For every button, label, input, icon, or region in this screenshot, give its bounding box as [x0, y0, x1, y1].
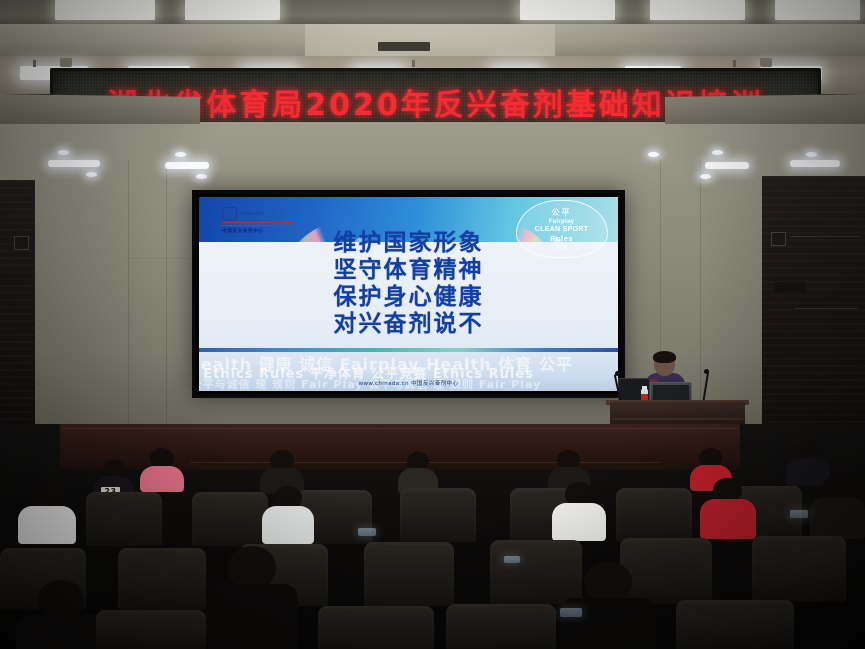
cove-strip-light — [790, 160, 840, 167]
ceiling-panel-light — [55, 0, 155, 20]
sprinkler-head — [33, 60, 36, 67]
attendee — [552, 482, 606, 540]
attendee — [140, 448, 184, 490]
attendee-torso — [560, 598, 656, 649]
wall-hairline — [795, 308, 857, 309]
slide-footer-url: www.chinada.cn 中国反兴奋剂中心 — [199, 379, 618, 387]
bottle-cap — [642, 386, 647, 390]
ceiling-panel-light — [650, 0, 745, 20]
ceiling-cove-right — [665, 94, 865, 124]
attendee — [262, 486, 314, 542]
attendee — [810, 476, 865, 538]
sprinkler-head — [412, 60, 415, 67]
presenter-hair — [653, 351, 676, 363]
ceiling-panel-light — [775, 0, 860, 20]
downlight — [58, 150, 69, 155]
slide-slogan-list: 维护国家形象 坚守体育精神 保护身心健康 对兴奋剂说不 — [199, 230, 618, 338]
wall-panel-dark-left — [0, 180, 35, 430]
projection-screen: CHINADA 中国反兴奋剂中心 公平 Fairplay CLEAN SPORT… — [192, 190, 625, 398]
auditorium-seat[interactable] — [192, 492, 268, 546]
downlight — [712, 150, 723, 155]
chinada-logo-bars — [222, 222, 294, 227]
slogan-line-3: 保护身心健康 — [199, 284, 618, 311]
wall-seam — [700, 160, 701, 430]
attendee-torso — [16, 614, 106, 649]
cloud-line-fairness-cn: 公平 — [552, 207, 572, 218]
attendee-torso — [810, 497, 865, 539]
downlight — [648, 152, 659, 157]
attendee-torso — [552, 503, 606, 541]
downlight — [700, 174, 711, 179]
wall-hairline — [128, 258, 190, 259]
device-screen-glow — [560, 608, 582, 617]
microphone-head — [615, 371, 620, 376]
attendee-torso — [140, 466, 184, 492]
attendee — [700, 478, 756, 538]
auditorium-seat[interactable] — [96, 610, 206, 649]
wall-speaker — [775, 282, 805, 292]
chinada-bar — [222, 225, 294, 227]
device-screen-glow — [790, 510, 808, 518]
attendee — [18, 484, 76, 542]
downlight — [196, 174, 207, 179]
downlight — [86, 172, 97, 177]
ceiling-panel-light — [520, 0, 615, 20]
ceiling-soffit-box — [305, 24, 555, 58]
cove-strip-light — [48, 160, 100, 167]
auditorium-seat[interactable] — [400, 488, 476, 542]
auditorium-seat[interactable] — [86, 492, 162, 546]
auditorium-seat[interactable] — [118, 548, 206, 610]
auditorium-seat[interactable] — [318, 606, 434, 649]
auditorium-seat[interactable] — [446, 604, 556, 649]
auditorium-seat[interactable] — [364, 542, 454, 606]
cloud-line-fairplay: Fairplay — [549, 219, 574, 225]
wall-seam — [128, 160, 129, 430]
wall-seam — [166, 160, 167, 430]
attendee-torso — [700, 499, 756, 539]
ceiling-vent-plate — [378, 42, 430, 51]
slogan-line-4: 对兴奋剂说不 — [199, 311, 618, 338]
slide-gradient-bar — [199, 348, 618, 352]
auditorium-seat[interactable] — [752, 536, 846, 602]
auditorium-seat[interactable] — [676, 600, 794, 649]
chinada-bar — [222, 222, 294, 224]
attendee-foreground — [560, 562, 656, 649]
downlight — [175, 152, 186, 157]
attendee-foreground — [16, 580, 106, 649]
cove-strip-light — [705, 162, 749, 169]
cove-strip-light — [165, 162, 209, 169]
attendee — [398, 452, 438, 492]
wall-outlet[interactable] — [771, 232, 786, 246]
desk-edge-highlight — [62, 428, 738, 429]
microphone-head — [704, 369, 709, 374]
device-screen-glow — [358, 528, 376, 536]
banner-mount-bracket — [760, 58, 772, 67]
wall-hairline — [790, 236, 860, 237]
attendee-torso — [262, 506, 314, 544]
chinada-mark-icon — [222, 207, 237, 220]
chinada-logo-row: CHINADA — [222, 207, 294, 220]
ceiling-cove-left — [0, 94, 200, 124]
downlight — [806, 152, 817, 157]
banner-mount-bracket — [60, 58, 72, 67]
slogan-line-2: 坚守体育精神 — [199, 257, 618, 284]
device-screen-glow — [504, 556, 520, 563]
attendee-torso — [18, 506, 76, 544]
ceiling-panel-light — [185, 0, 280, 20]
auditorium-seat[interactable] — [616, 488, 692, 542]
wall-outlet[interactable] — [14, 236, 29, 250]
attendee-torso — [206, 584, 298, 649]
podium-trim-line — [612, 418, 743, 420]
sprinkler-head — [733, 60, 736, 67]
auditorium-photo: 湖北省体育局2020年反兴奋剂基础知识培训 — [0, 0, 865, 649]
wall-panel-dark-right — [762, 176, 865, 430]
attendee-foreground — [206, 546, 298, 649]
presentation-slide: CHINADA 中国反兴奋剂中心 公平 Fairplay CLEAN SPORT… — [199, 197, 618, 391]
chinada-logo-latin: CHINADA — [240, 211, 264, 216]
slogan-line-1: 维护国家形象 — [199, 230, 618, 257]
